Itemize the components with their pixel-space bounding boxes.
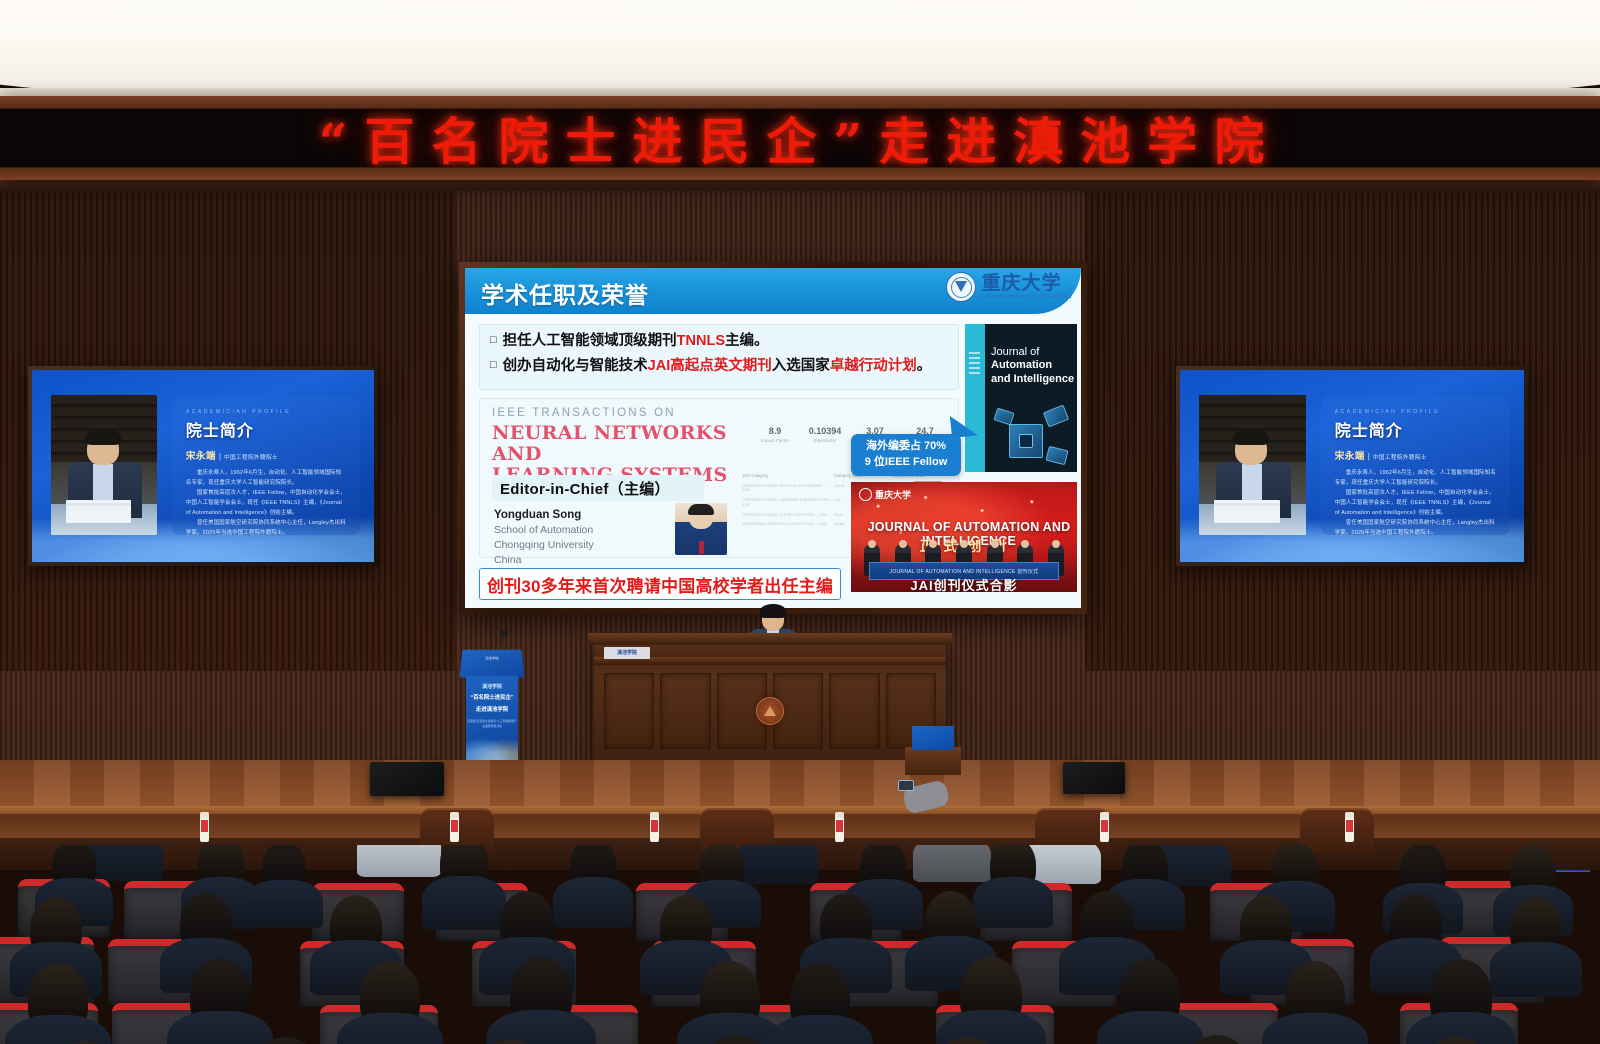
audience-member [440, 845, 488, 893]
audience-member [360, 961, 420, 1033]
audience-member [1180, 1035, 1254, 1044]
audience-member [1120, 959, 1180, 1031]
bullet-2-post: 。 [917, 358, 932, 374]
audience-member [475, 1039, 547, 1044]
profile-name: 宋永端 [1335, 448, 1365, 462]
editor-in-chief-label: Editor-in-Chief（主编） [500, 478, 670, 499]
editor-portrait [675, 503, 727, 555]
audience-member [700, 845, 744, 895]
university-name-en: CHONGQING UNIVERSITY [981, 295, 1073, 300]
bullet-2-plain: 入选国家 [772, 358, 830, 374]
profile-kicker: ACADEMICIAN PROFILE [1335, 409, 1497, 415]
audience-member [755, 845, 801, 849]
audience-member [1430, 959, 1492, 1033]
profile-affiliation: 中国工程院外籍院士 [1373, 453, 1427, 461]
main-rostrum: 滇池学院 [594, 641, 946, 763]
audience-member [1040, 845, 1084, 851]
academician-profile-panel-left: ACADEMICIAN PROFILE 院士简介 宋永端 | 中国工程院外籍院士… [172, 397, 360, 535]
rostrum-top-surface [588, 633, 952, 645]
jcr-cell-category: COMPUTER SCIENCE, ARTIFICIAL INTELLIGENC… [742, 484, 834, 494]
led-banner: “百名院士进民企”走进滇池学院 [0, 96, 1600, 180]
audience-member [198, 845, 244, 893]
audience-member [500, 891, 554, 955]
bullet-2-highlight2: 卓越行动计划 [830, 358, 917, 374]
side-display-right-content: ACADEMICIAN PROFILE 院士简介 宋永端 | 中国工程院外籍院士… [1180, 370, 1524, 562]
led-banner-screen: “百名院士进民企”走进滇池学院 [0, 109, 1600, 167]
audience-member-photographer [930, 845, 974, 849]
slide-red-banner: 创刊30多年来首次聘请中国高校学者出任主编 [479, 568, 841, 600]
presentation-slide: 学术任职及荣誉 重庆大学CHONGQING UNIVERSITY □ 担任人工智… [465, 268, 1081, 608]
audience-member [1170, 845, 1214, 853]
bullet-square-icon: □ [490, 359, 497, 373]
audience-member [1390, 893, 1442, 955]
profile-paragraph-2: 国家首批高层次人才，IEEE Fellow，中国自动化学会会士，中国人工智能学会… [186, 488, 347, 518]
audience-member [1285, 961, 1345, 1033]
cover-title-line3: and Intelligence [991, 373, 1074, 385]
audience-member [820, 893, 872, 955]
water-bottle [835, 812, 844, 842]
lectern-podium: 滇池学院 滇池学院 “百名院士进民企” 走进滇池学院 云南省“百名院士进民企”人… [461, 648, 523, 764]
profile-paragraph-1: 重庆永寿人，1962年6月生，自动化、人工智能领域国际知名专家，现任重庆大学人工… [1335, 468, 1497, 488]
audience-area [0, 845, 1600, 1044]
slide-title: 学术任职及荣誉 [481, 276, 649, 310]
editorial-board-callout: 海外编委占 70% 9 位IEEE Fellow [851, 434, 961, 476]
metric-eigenfactor: 0.10394 Eigenfactor [800, 426, 850, 451]
university-name-cn: 重庆大学CHONGQING UNIVERSITY [981, 274, 1073, 300]
smartphone-icon [898, 780, 914, 791]
stage-side-table [905, 747, 961, 775]
bullet-1-highlight: TNNLS [677, 333, 725, 349]
audience-member [330, 895, 382, 957]
profile-title: 院士简介 [186, 417, 347, 441]
editor-university: Chongqing University [494, 539, 594, 551]
ieee-kicker: IEEE TRANSACTIONS ON [492, 407, 676, 419]
audience-member [790, 963, 850, 1035]
slide-red-banner-text: 创刊30多年来首次聘请中国高校学者出任主编 [487, 572, 833, 597]
profile-affiliation: 中国工程院外籍院士 [224, 453, 278, 461]
profile-name-row: 宋永端 | 中国工程院外籍院士 [1335, 448, 1497, 462]
cover-title-line1: Journal of [991, 346, 1039, 358]
side-display-left-content: ACADEMICIAN PROFILE 院士简介 宋永端 | 中国工程院外籍院士… [32, 370, 374, 562]
national-emblem-icon [756, 697, 784, 725]
podium-top-panel: 滇池学院 [459, 650, 524, 678]
audience-member [100, 845, 146, 846]
bullet-item-2: □ 创办自动化与智能技术JAI高起点英文期刊入选国家卓越行动计划。 [490, 357, 948, 375]
auditorium-scene: “百名院士进民企”走进滇池学院 学术任职及荣誉 重庆大学CHONGQING UN… [0, 0, 1600, 1044]
stage-monitor-speaker-left [370, 762, 444, 796]
ceremony-university-name: 重庆大学 [875, 488, 911, 501]
bullet-item-1: □ 担任人工智能领域顶级期刊TNNLS主编。 [490, 332, 948, 350]
audience-member [28, 963, 88, 1035]
jcr-cell-category: ENGINEERING, ELECTRICAL & ELECTRONIC — S… [742, 522, 834, 527]
podium-front-panel: 滇池学院 “百名院士进民企” 走进滇池学院 云南省“百名院士进民企”人工智能赋能… [466, 676, 518, 764]
jcr-header-category: JCR Category [742, 473, 834, 478]
podium-logo-text: 滇池学院 [466, 683, 518, 690]
bullet-2-pre: 创办自动化与智能技术 [503, 358, 648, 374]
audience-member [1122, 845, 1168, 895]
metric-label: Impact Factor [750, 438, 800, 444]
profile-paragraph-2: 国家首批高层次人才，IEEE Fellow，中国自动化学会会士，中国人工智能学会… [1335, 488, 1497, 518]
profile-paragraph-3: 曾任美国国家航空研究院协同系统中心主任，Langley杰出科学家。2025年当选… [186, 518, 347, 538]
podium-title-line2: 走进滇池学院 [466, 706, 518, 714]
audience-member [700, 961, 760, 1033]
bullet-1-post: 主编。 [725, 333, 769, 349]
audience-member [30, 897, 82, 959]
metric-value: 0.10394 [800, 426, 850, 436]
cover-spine-lines [969, 352, 980, 374]
robot-arm-graphic-icon [995, 404, 1071, 470]
audience-member [700, 1035, 774, 1044]
audience-member [262, 845, 306, 895]
jcr-cell-category: COMPUTER SCIENCE, HARDWARE & ARCHITECTUR… [742, 498, 834, 508]
jcr-cell-category: COMPUTER SCIENCE, THEORY & METHODS — SCI… [742, 513, 834, 518]
water-bottle [1345, 812, 1354, 842]
water-bottle [650, 812, 659, 842]
ceremony-strip-text: JOURNAL OF AUTOMATION AND INTELLIGENCE 创… [890, 568, 1039, 575]
metric-impact-factor: 8.9 Impact Factor [750, 426, 800, 451]
water-bottle [200, 812, 209, 842]
projection-screen: 学术任职及荣誉 重庆大学CHONGQING UNIVERSITY □ 担任人工智… [459, 262, 1087, 614]
audience-member [250, 1037, 322, 1044]
profile-name: 宋永端 [186, 448, 216, 462]
audience-member [180, 893, 232, 955]
university-seal-icon [859, 488, 872, 501]
rostrum-name-plate: 滇池学院 [604, 647, 650, 659]
editor-name: Yongduan Song [494, 509, 581, 521]
metric-label: Eigenfactor [800, 438, 850, 444]
ieee-title-line1: NEURAL NETWORKS AND [492, 422, 727, 465]
water-bottle [450, 812, 459, 842]
jai-journal-cover: Journal of Automation and Intelligence [965, 324, 1077, 472]
audience-member [925, 891, 977, 953]
metric-value: 8.9 [750, 426, 800, 436]
profile-body: 重庆永寿人，1962年6月生，自动化、人工智能领域国际知名专家，现任重庆大学人工… [186, 468, 347, 538]
audience-member [570, 845, 616, 893]
audience-member [1240, 895, 1292, 957]
stage-display-item [912, 726, 954, 750]
audience-member [1272, 845, 1318, 897]
editor-country: China [494, 554, 521, 566]
editor-in-chief-badge: Editor-in-Chief（主编） [492, 475, 704, 501]
banner-title: “百名院士进民企”走进滇池学院 [319, 109, 1282, 167]
callout-line2: 9 位IEEE Fellow [865, 455, 948, 471]
audience-member [860, 845, 906, 895]
audience-member [1510, 897, 1562, 959]
side-display-right: ACADEMICIAN PROFILE 院士简介 宋永端 | 中国工程院外籍院士… [1176, 366, 1528, 566]
editor-details: Yongduan Song School of Automation Chong… [494, 507, 594, 568]
academician-photo-right [1199, 395, 1306, 535]
water-bottle [1100, 812, 1109, 842]
audience-member [990, 845, 1036, 893]
audience-member [1400, 845, 1446, 899]
editor-school: School of Automation [494, 524, 593, 536]
audience-member [1080, 891, 1134, 955]
podium-title-line1: “百名院士进民企” [466, 694, 518, 702]
profile-paragraph-3: 曾任美国国家航空研究院协同系统中心主任，Langley杰出科学家。2025年当选… [1335, 518, 1497, 538]
academician-photo-left [51, 395, 157, 535]
audience-member [1420, 1037, 1494, 1044]
audience-member [1510, 845, 1556, 901]
stage-monitor-speaker-right [1063, 762, 1125, 794]
jai-ceremony-photo: 重庆大学 JOURNAL OF AUTOMATION AND INTELLIGE… [851, 482, 1077, 592]
university-logo: 重庆大学CHONGQING UNIVERSITY [946, 272, 1073, 302]
bullet-1-pre: 担任人工智能领域顶级期刊 [503, 333, 677, 349]
ceremony-caption: JAI创刊仪式合影 [851, 575, 1077, 592]
profile-kicker: ACADEMICIAN PROFILE [186, 409, 347, 415]
audience-member [52, 845, 96, 893]
profile-name-row: 宋永端 | 中国工程院外籍院士 [186, 448, 347, 462]
profile-body: 重庆永寿人，1962年6月生，自动化、人工智能领域国际知名专家，现任重庆大学人工… [1335, 468, 1497, 538]
bullet-list: □ 担任人工智能领域顶级期刊TNNLS主编。 □ 创办自动化与智能技术JAI高起… [479, 324, 959, 390]
audience-member [960, 957, 1022, 1031]
university-seal-icon [946, 272, 976, 302]
profile-separator: | [1368, 452, 1370, 461]
podium-top-text: 滇池学院 [461, 657, 523, 662]
profile-separator: | [219, 452, 221, 461]
rostrum-name-plate-text: 滇池学院 [604, 647, 650, 659]
profile-title: 院士简介 [1335, 417, 1497, 441]
audience-member [930, 1037, 1004, 1044]
bullet-2-mid: 高起点英文期刊 [670, 358, 772, 374]
cover-title-line2: Automation [991, 359, 1052, 371]
academician-profile-panel-right: ACADEMICIAN PROFILE 院士简介 宋永端 | 中国工程院外籍院士… [1321, 397, 1510, 535]
bullet-2-highlight: JAI [648, 358, 671, 374]
audience-member [190, 959, 250, 1031]
audience-member [660, 895, 712, 957]
ceremony-university-mark: 重庆大学 [859, 488, 911, 501]
profile-paragraph-1: 重庆永寿人，1962年6月生，自动化、人工智能领域国际知名专家，现任重庆大学人工… [186, 468, 347, 488]
bullet-square-icon: □ [490, 334, 497, 348]
cover-title: Journal of Automation and Intelligence [991, 346, 1075, 386]
podium-subtitle: 云南省“百名院士进民企”人工智能赋能产业发展专题活动 [466, 719, 518, 728]
side-display-left: ACADEMICIAN PROFILE 院士简介 宋永端 | 中国工程院外籍院士… [28, 366, 378, 566]
audience-member [510, 957, 572, 1031]
callout-line1: 海外编委占 70% [866, 439, 946, 455]
necktie-shape [699, 541, 704, 554]
